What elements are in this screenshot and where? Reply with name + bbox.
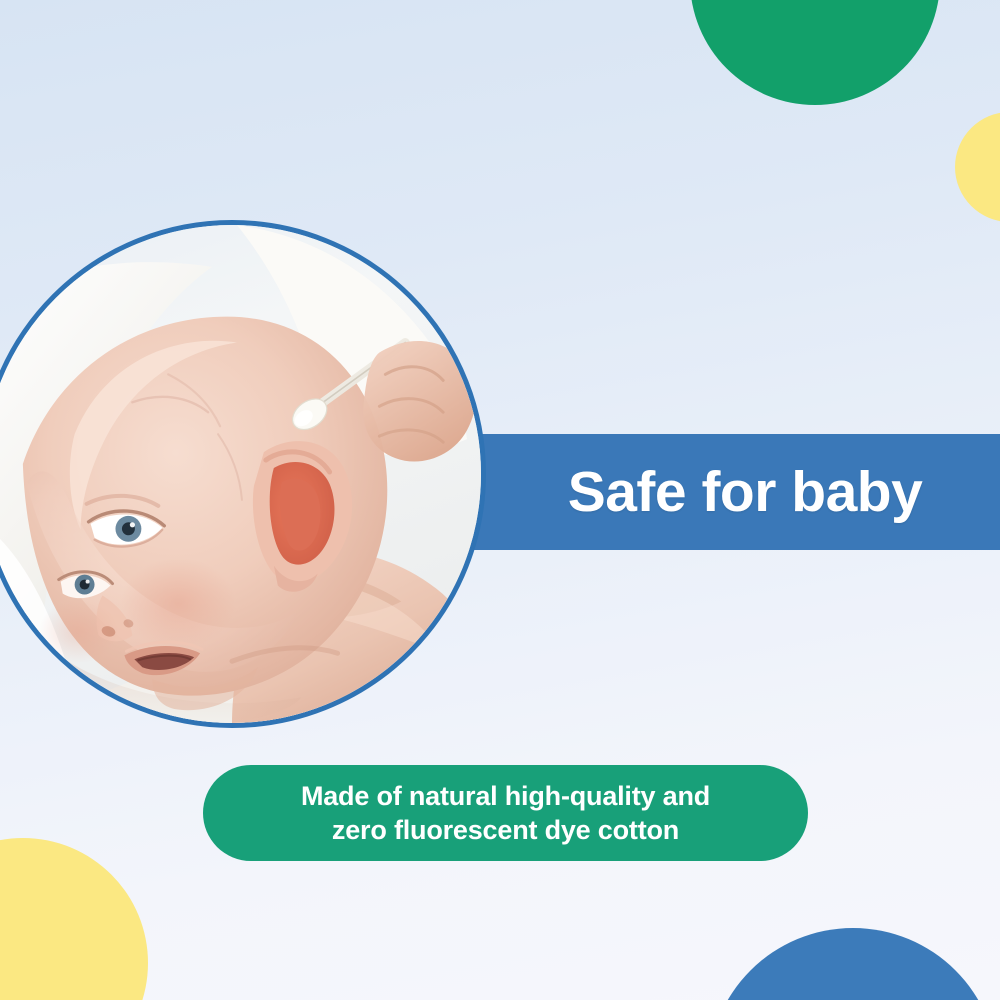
blue-circle-decoration-bottom-right [708,928,998,1000]
yellow-circle-decoration-bottom-left [0,838,148,1000]
baby-photo-illustration [0,225,481,723]
safe-for-baby-headline: Safe for baby [468,459,1000,525]
cotton-quality-line-2: zero fluorescent dye cotton [332,813,679,847]
baby-photo-circle [0,220,486,728]
promo-graphic: Safe for baby Made of natural high-quali… [0,0,1000,1000]
cotton-quality-line-1: Made of natural high-quality and [301,779,710,813]
safe-for-baby-banner: Safe for baby [468,434,1000,550]
green-circle-decoration-top-right [690,0,940,105]
cotton-quality-pill: Made of natural high-quality and zero fl… [203,765,808,861]
yellow-circle-decoration-right [955,112,1000,222]
